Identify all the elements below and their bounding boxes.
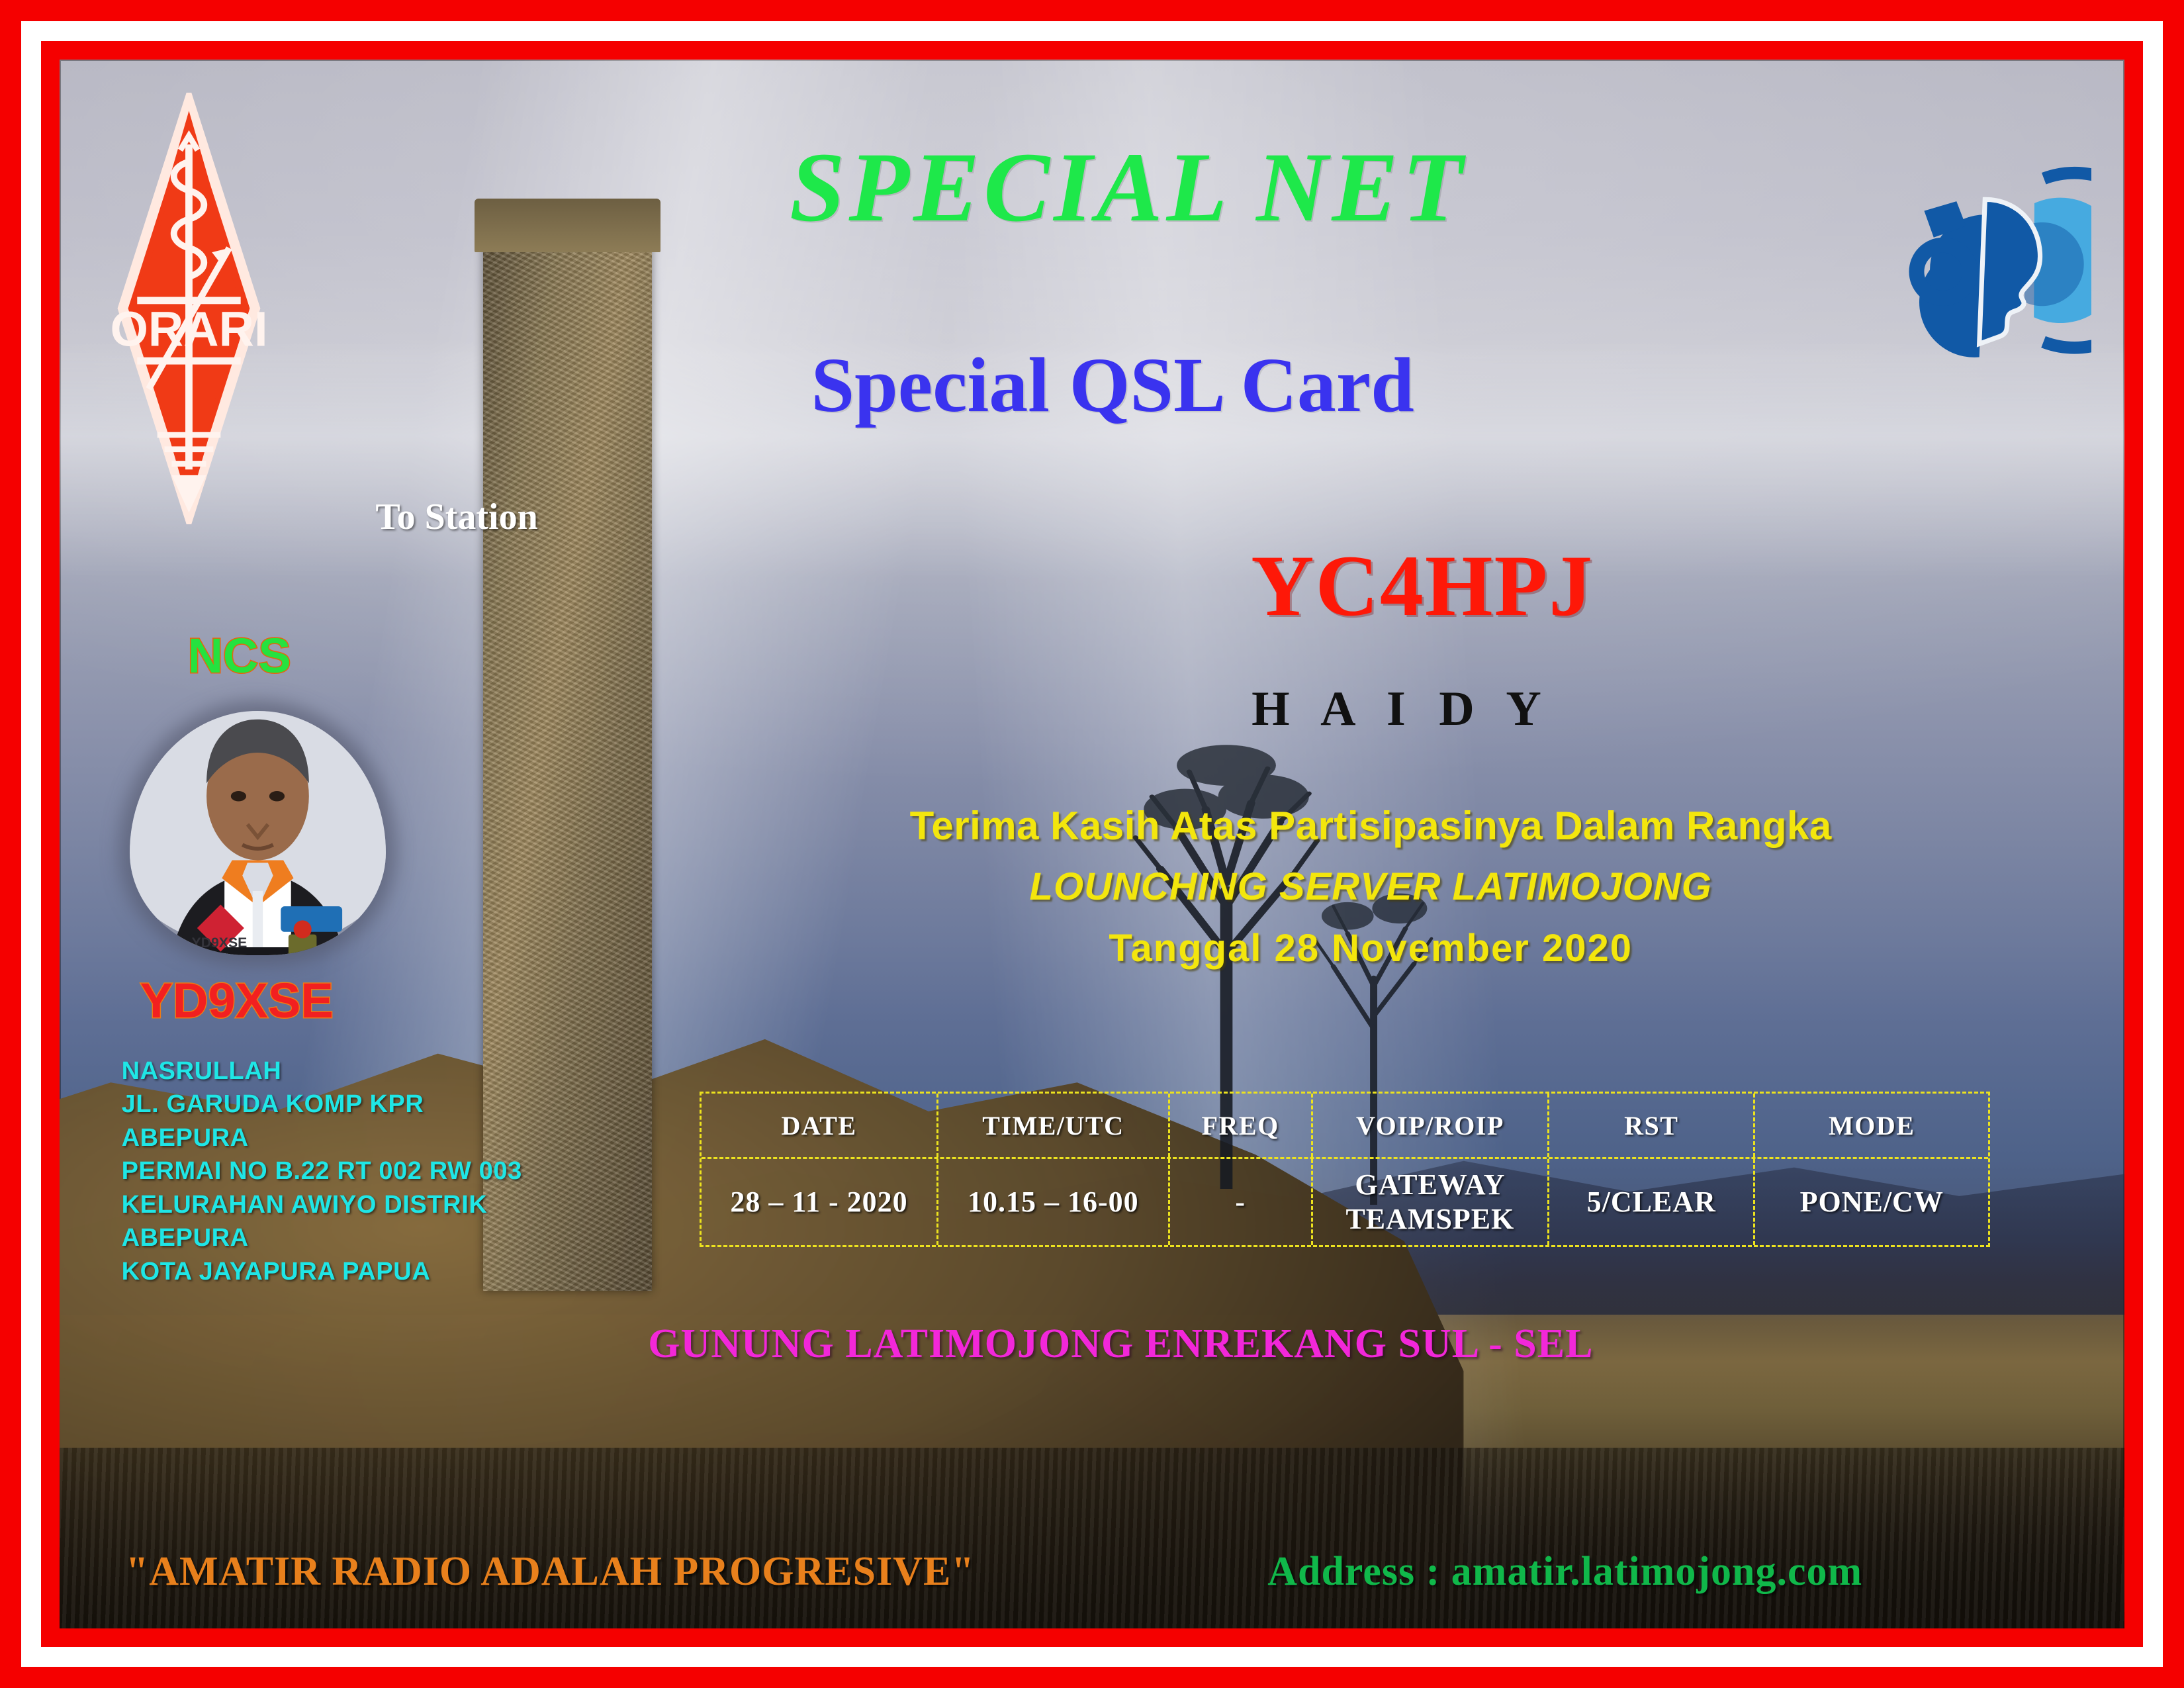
thanks-block: Terima Kasih Atas Partisipasinya Dalam R… bbox=[679, 803, 2062, 970]
thanks-line-1: Terima Kasih Atas Partisipasinya Dalam R… bbox=[679, 803, 2062, 849]
address-line: ABEPURA bbox=[122, 1221, 522, 1255]
qso-cell-voip: GATEWAY TEAMSPEK bbox=[1313, 1159, 1550, 1245]
qso-cell-time: 10.15 – 16-00 bbox=[938, 1159, 1170, 1245]
qsl-card: ORARI SPECIAL NET bbox=[0, 0, 2184, 1688]
background-photo: ORARI SPECIAL NET bbox=[60, 60, 2124, 1628]
location-label: GUNUNG LATIMOJONG ENREKANG SUL - SEL bbox=[648, 1321, 1593, 1368]
qso-cell-freq: - bbox=[1170, 1159, 1313, 1245]
qso-cell-mode: PONE/CW bbox=[1755, 1159, 1988, 1245]
to-station-label: To Station bbox=[375, 496, 537, 538]
qso-header-rst: RST bbox=[1549, 1094, 1755, 1157]
page-title: SPECIAL NET bbox=[132, 130, 2124, 244]
qso-cell-rst: 5/CLEAR bbox=[1549, 1159, 1755, 1245]
thanks-line-2: LOUNCHING SERVER LATIMOJONG bbox=[679, 865, 2062, 909]
table-row: 28 – 11 - 2020 10.15 – 16-00 - GATEWAY T… bbox=[702, 1157, 1988, 1245]
card-content: ORARI SPECIAL NET bbox=[60, 60, 2124, 1628]
qso-header-date: DATE bbox=[702, 1094, 938, 1157]
address-block: NASRULLAH JL. GARUDA KOMP KPR ABEPURA PE… bbox=[122, 1055, 522, 1289]
address-line: ABEPURA bbox=[122, 1121, 522, 1155]
qso-table: DATE TIME/UTC FREQ VOIP/ROIP RST MODE 28… bbox=[700, 1092, 1990, 1247]
address-line: KELURAHAN AWIYO DISTRIK bbox=[122, 1188, 522, 1222]
slogan-text: "AMATIR RADIO ADALAH PROGRESIVE" bbox=[126, 1548, 975, 1595]
station-callsign: YC4HPJ bbox=[886, 535, 1959, 636]
thanks-line-3: Tanggal 28 November 2020 bbox=[679, 926, 2062, 970]
qso-header-time: TIME/UTC bbox=[938, 1094, 1170, 1157]
qso-cell-date: 28 – 11 - 2020 bbox=[702, 1159, 938, 1245]
qso-header-freq: FREQ bbox=[1170, 1094, 1313, 1157]
card-frame-white: ORARI SPECIAL NET bbox=[21, 21, 2163, 1667]
page-subtitle: Special QSL Card bbox=[101, 340, 2124, 430]
web-address-text: Address : amatir.latimojong.com bbox=[1267, 1548, 1862, 1595]
address-line: PERMAI NO B.22 RT 002 RW 003 bbox=[122, 1154, 522, 1188]
address-line: JL. GARUDA KOMP KPR bbox=[122, 1088, 522, 1121]
qso-table-header-row: DATE TIME/UTC FREQ VOIP/ROIP RST MODE bbox=[702, 1094, 1988, 1157]
card-frame-red-inner: ORARI SPECIAL NET bbox=[41, 41, 2143, 1647]
qso-header-mode: MODE bbox=[1755, 1094, 1988, 1157]
operator-photo: YD9XSE bbox=[130, 711, 386, 956]
ncs-label: NCS bbox=[187, 628, 291, 684]
address-line: KOTA JAYAPURA PAPUA bbox=[122, 1255, 522, 1289]
ncs-callsign: YD9XSE bbox=[140, 972, 334, 1029]
operator-name: H A I D Y bbox=[886, 681, 1918, 737]
address-line: NASRULLAH bbox=[122, 1055, 522, 1088]
shirt-callsign-text: YD9XSE bbox=[192, 935, 248, 951]
qso-header-voip: VOIP/ROIP bbox=[1313, 1094, 1550, 1157]
